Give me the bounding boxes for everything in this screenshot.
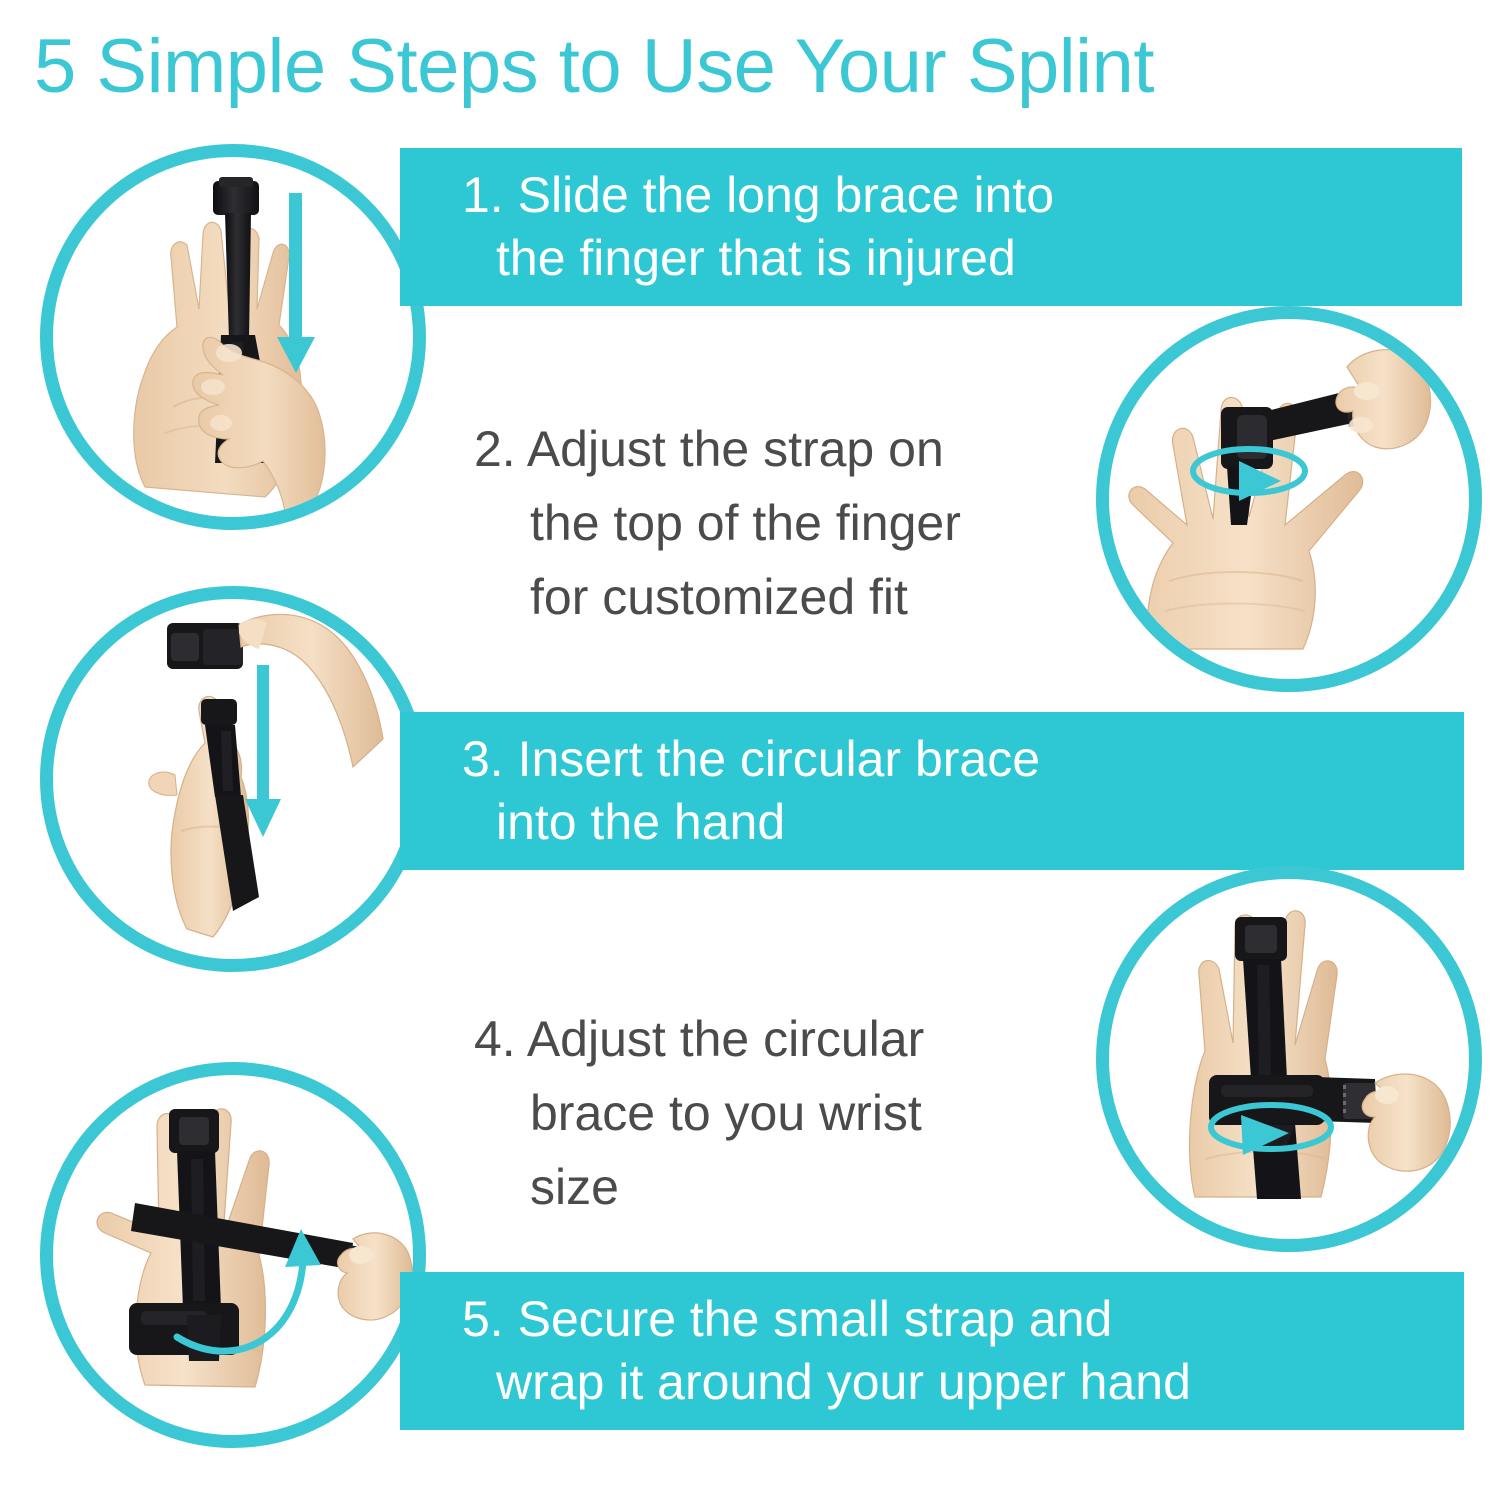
step-2-photo: [1096, 306, 1482, 692]
step-1-line-2: the finger that is injured: [462, 227, 1462, 290]
pulling-hand-shape: [1362, 1074, 1450, 1171]
step-4-line-3: size: [474, 1150, 1074, 1224]
step-2-line-3: for customized fit: [474, 560, 1094, 634]
step-4-photo: [1096, 866, 1482, 1252]
down-arrow-icon: [245, 665, 281, 837]
step-2-line-2: the top of the finger: [474, 486, 1094, 560]
circular-wrist-brace-shape: [167, 623, 243, 669]
step-1-photo: [40, 144, 426, 530]
hand-wrapping-upper-strap-image: [53, 1075, 413, 1435]
step-5-banner: 5. Secure the small strap and wrap it ar…: [400, 1272, 1464, 1430]
step-5-line-1: 5. Secure the small strap and: [462, 1288, 1464, 1351]
step-5-photo: [40, 1062, 426, 1448]
step-3-line-2: into the hand: [462, 791, 1464, 854]
pulling-hand-shape: [1336, 350, 1431, 449]
step-4-line-2: brace to you wrist: [474, 1076, 1074, 1150]
step-4-line-1: 4. Adjust the circular: [474, 1002, 1074, 1076]
hand-adjusting-wrist-brace-image: [1109, 879, 1469, 1239]
step-1-banner: 1. Slide the long brace into the finger …: [400, 148, 1462, 306]
step-1-line-1: 1. Slide the long brace into: [462, 164, 1462, 227]
step-4-text: 4. Adjust the circular brace to you wris…: [474, 1002, 1074, 1224]
step-2-line-1: 2. Adjust the strap on: [474, 412, 1094, 486]
step-3-banner: 3. Insert the circular brace into the ha…: [400, 712, 1464, 870]
infographic-page: 5 Simple Steps to Use Your Splint: [0, 0, 1500, 1500]
step-3-photo: [40, 586, 426, 972]
hands-sliding-brace-onto-finger-image: [53, 157, 413, 517]
step-3-line-1: 3. Insert the circular brace: [462, 728, 1464, 791]
hand-adjusting-finger-strap-image: [1109, 319, 1469, 679]
page-title: 5 Simple Steps to Use Your Splint: [34, 24, 1474, 110]
hand-inserting-circular-brace-image: [53, 599, 413, 959]
step-2-text: 2. Adjust the strap on the top of the fi…: [474, 412, 1094, 634]
step-5-line-2: wrap it around your upper hand: [462, 1351, 1464, 1414]
